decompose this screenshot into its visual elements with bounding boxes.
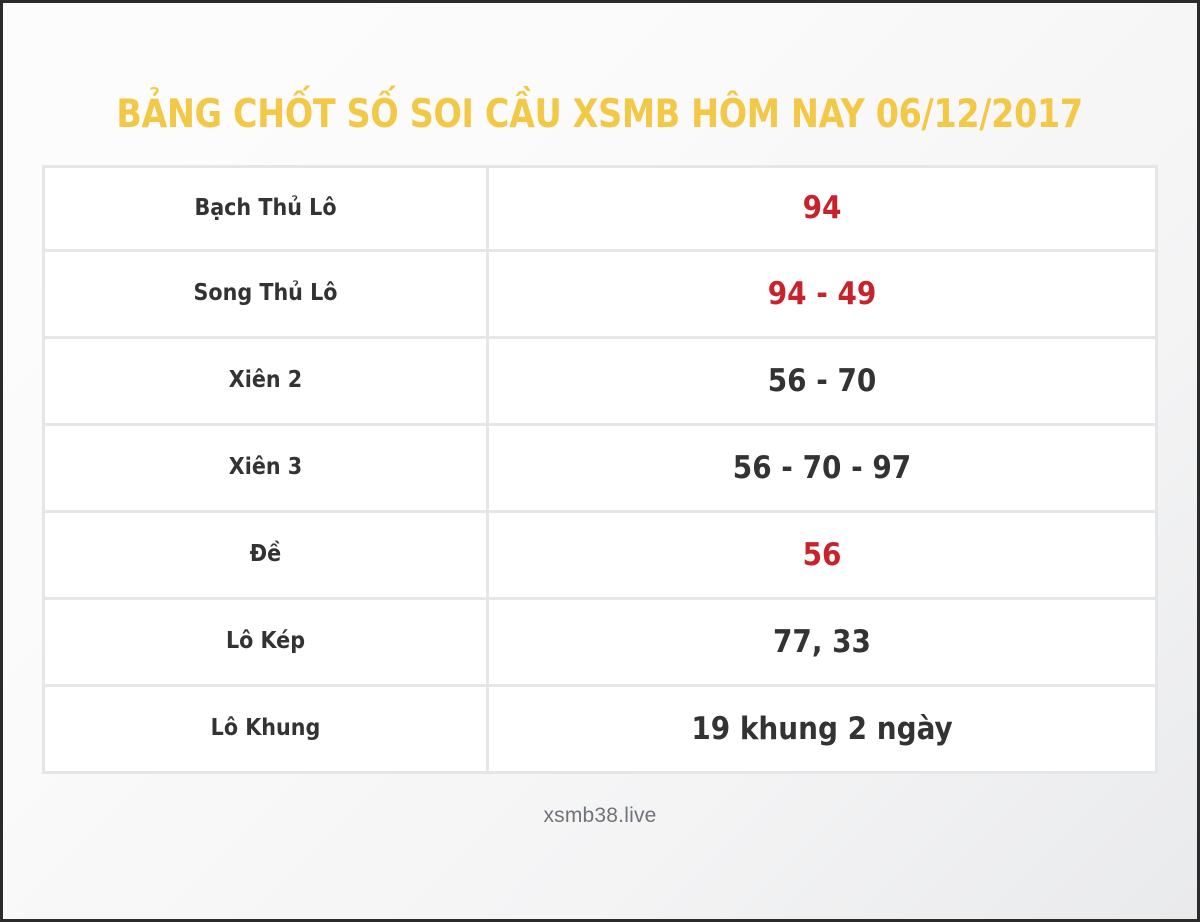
- row-value: 94 - 49: [489, 252, 1158, 339]
- row-label: Lô Khung: [42, 687, 489, 774]
- prediction-table-body: Bạch Thủ Lô 94 Song Thủ Lô 94 - 49 Xiên …: [42, 165, 1158, 774]
- row-value: 56: [489, 513, 1158, 600]
- row-value: 77, 33: [489, 600, 1158, 687]
- row-label: Bạch Thủ Lô: [42, 165, 489, 252]
- site-watermark: xsmb38.live: [543, 804, 656, 828]
- row-value: 94: [489, 165, 1158, 252]
- page-title: BẢNG CHỐT SỐ SOI CẦU XSMB HÔM NAY 06/12/…: [117, 95, 1083, 134]
- row-label: Xiên 2: [42, 339, 489, 426]
- table-row: Bạch Thủ Lô 94: [42, 165, 1158, 252]
- table-row: Đề 56: [42, 513, 1158, 600]
- table-row: Lô Kép 77, 33: [42, 600, 1158, 687]
- row-value: 56 - 70 - 97: [489, 426, 1158, 513]
- row-value: 19 khung 2 ngày: [489, 687, 1158, 774]
- page-container: BẢNG CHỐT SỐ SOI CẦU XSMB HÔM NAY 06/12/…: [0, 0, 1200, 922]
- row-label: Song Thủ Lô: [42, 252, 489, 339]
- table-row: Xiên 3 56 - 70 - 97: [42, 426, 1158, 513]
- row-label: Xiên 3: [42, 426, 489, 513]
- row-label: Lô Kép: [42, 600, 489, 687]
- row-value: 56 - 70: [489, 339, 1158, 426]
- row-label: Đề: [42, 513, 489, 600]
- table-row: Song Thủ Lô 94 - 49: [42, 252, 1158, 339]
- table-row: Lô Khung 19 khung 2 ngày: [42, 687, 1158, 774]
- prediction-table: Bạch Thủ Lô 94 Song Thủ Lô 94 - 49 Xiên …: [42, 165, 1158, 774]
- table-row: Xiên 2 56 - 70: [42, 339, 1158, 426]
